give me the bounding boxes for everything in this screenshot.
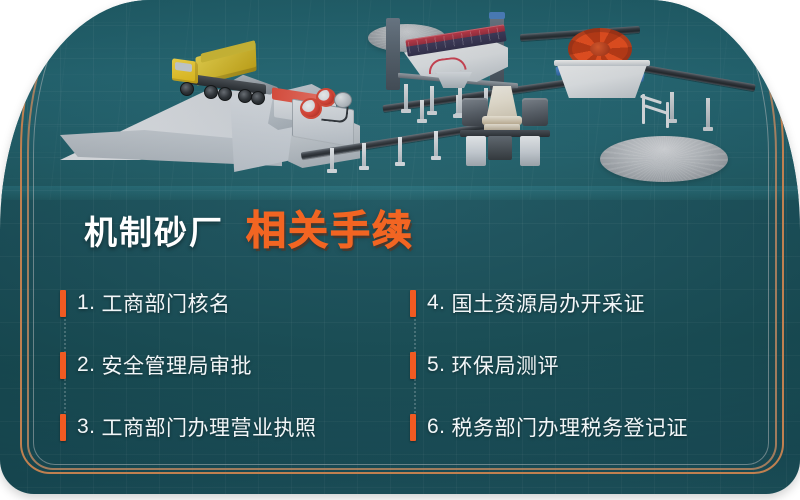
screen-leg [430,86,434,112]
truck-wheel-icon [180,82,194,96]
sand-washer-rim [554,60,650,66]
list-item[interactable]: 1. 工商部门核名 [60,272,410,334]
procedure-column-right: 4. 国土资源局办开采证 5. 环保局测评 6. 税务部门办理税务登记证 [410,272,760,458]
orange-bullet-icon [60,352,66,379]
screen-discharge-chute [436,72,472,88]
page-title: 机制砂厂 相关手续 [84,198,414,256]
orange-bullet-icon [60,414,66,441]
conveyor-leg [706,98,710,128]
list-item-label: 税务部门办理税务登记证 [452,412,689,442]
access-stair-icon [640,92,688,130]
procedure-column-left: 1. 工商部门核名 2. 安全管理局审批 3. 工商部门办理营业执照 [60,272,410,458]
conveyor-leg [398,137,402,163]
list-item-number: 2. [77,353,96,377]
list-item[interactable]: 6. 税务部门办理税务登记证 [410,396,760,458]
truck-wheel-icon [204,85,218,99]
motor-icon [334,92,352,108]
list-item[interactable]: 5. 环保局测评 [410,334,760,396]
orange-bullet-icon [410,414,416,441]
banner-image: 机制砂厂 相关手续 1. 工商部门核名 2. 安全管理局审批 [0,0,800,500]
list-item-number: 5. [427,353,446,377]
procedure-list: 1. 工商部门核名 2. 安全管理局审批 3. 工商部门办理营业执照 [60,272,760,458]
list-item-number: 3. [77,415,96,439]
flywheel-icon [316,88,336,107]
conveyor-leg [330,148,334,170]
truck-wheel-icon [218,87,232,101]
title-orange-part: 相关手续 [246,198,414,256]
teal-panel: 机制砂厂 相关手续 1. 工商部门核名 2. 安全管理局审批 [0,0,800,494]
list-item-number: 1. [77,291,96,315]
list-item-label: 工商部门办理营业执照 [102,412,317,442]
sand-washer-tub [556,62,648,98]
list-item-number: 4. [427,291,446,315]
list-item-label: 环保局测评 [452,350,560,380]
truck-wheel-icon [251,91,265,105]
list-item-number: 6. [427,415,446,439]
orange-bullet-icon [410,290,416,317]
list-item-label: 工商部门核名 [102,288,231,318]
vsi-discharge [488,136,512,160]
screen-leg [404,84,408,110]
list-item[interactable]: 2. 安全管理局审批 [60,334,410,396]
screen-support-tower [386,18,400,90]
vsi-motor-icon [522,98,548,126]
list-item[interactable]: 3. 工商部门办理营业执照 [60,396,410,458]
orange-bullet-icon [410,352,416,379]
tower-cap-icon [489,12,505,19]
vsi-foot [466,136,486,166]
list-item[interactable]: 4. 国土资源局办开采证 [410,272,760,334]
belt-conveyor-icon [636,64,755,92]
sand-washer-hub [590,42,610,56]
conveyor-leg [434,131,438,157]
vsi-foot [520,136,540,166]
production-line-scene [0,0,800,200]
orange-bullet-icon [60,290,66,317]
list-item-label: 国土资源局办开采证 [452,288,646,318]
sand-pile-icon [600,136,728,182]
truck-wheel-icon [238,89,252,103]
list-item-label: 安全管理局审批 [102,350,253,380]
title-white-part: 机制砂厂 [84,206,224,254]
conveyor-leg [420,100,424,120]
conveyor-leg [362,143,366,167]
